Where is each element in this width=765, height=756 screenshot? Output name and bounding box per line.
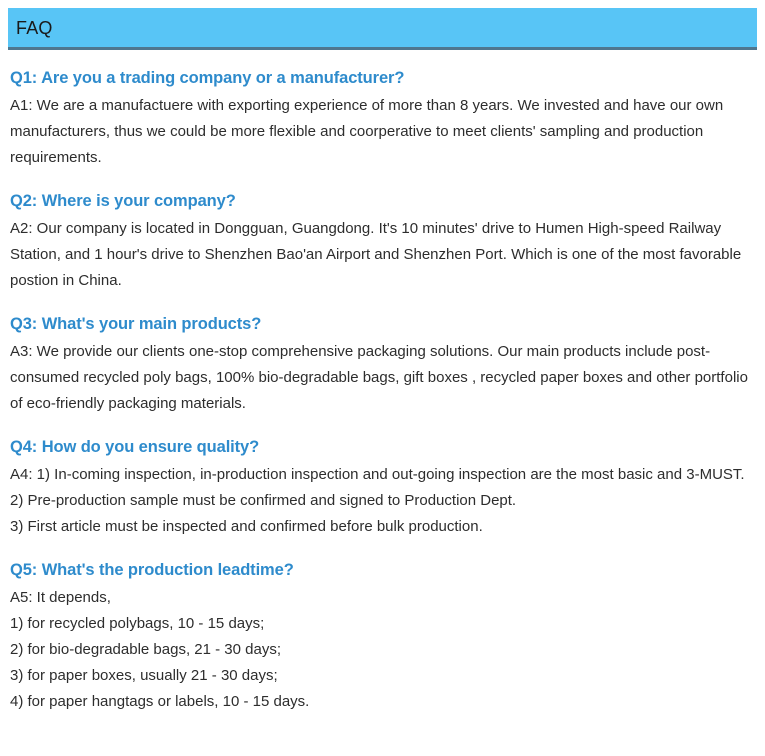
- faq-answer: A4: 1) In-coming inspection, in-producti…: [10, 462, 751, 540]
- faq-question: Q4: How do you ensure quality?: [10, 436, 751, 458]
- faq-answer-line: 2) Pre-production sample must be confirm…: [10, 488, 751, 514]
- faq-question: Q2: Where is your company?: [10, 190, 751, 212]
- faq-answer-line: 2) for bio-degradable bags, 21 - 30 days…: [10, 637, 751, 663]
- faq-answer-line: 1) for recycled polybags, 10 - 15 days;: [10, 611, 751, 637]
- faq-list: Q1: Are you a trading company or a manuf…: [0, 67, 765, 715]
- faq-item: Q2: Where is your company? A2: Our compa…: [10, 190, 751, 294]
- faq-answer-line: A1: We are a manufactuere with exporting…: [10, 93, 751, 171]
- page-title: FAQ: [8, 19, 53, 37]
- faq-item: Q1: Are you a trading company or a manuf…: [10, 67, 751, 171]
- faq-answer-line: A3: We provide our clients one-stop comp…: [10, 339, 751, 417]
- faq-answer-line: A4: 1) In-coming inspection, in-producti…: [10, 462, 751, 488]
- faq-item: Q4: How do you ensure quality? A4: 1) In…: [10, 436, 751, 540]
- faq-item: Q5: What's the production leadtime? A5: …: [10, 559, 751, 715]
- faq-question: Q1: Are you a trading company or a manuf…: [10, 67, 751, 89]
- faq-item: Q3: What's your main products? A3: We pr…: [10, 313, 751, 417]
- faq-answer: A3: We provide our clients one-stop comp…: [10, 339, 751, 417]
- faq-answer-line: 3) for paper boxes, usually 21 - 30 days…: [10, 663, 751, 689]
- faq-question: Q3: What's your main products?: [10, 313, 751, 335]
- faq-question: Q5: What's the production leadtime?: [10, 559, 751, 581]
- faq-answer: A1: We are a manufactuere with exporting…: [10, 93, 751, 171]
- faq-page: FAQ Q1: Are you a trading company or a m…: [0, 8, 765, 756]
- faq-answer-line: 4) for paper hangtags or labels, 10 - 15…: [10, 689, 751, 715]
- faq-header-banner: FAQ: [8, 8, 757, 50]
- faq-answer: A5: It depends, 1) for recycled polybags…: [10, 585, 751, 715]
- faq-answer-line: 3) First article must be inspected and c…: [10, 514, 751, 540]
- faq-answer: A2: Our company is located in Dongguan, …: [10, 216, 751, 294]
- faq-answer-line: A2: Our company is located in Dongguan, …: [10, 216, 751, 294]
- faq-answer-line: A5: It depends,: [10, 585, 751, 611]
